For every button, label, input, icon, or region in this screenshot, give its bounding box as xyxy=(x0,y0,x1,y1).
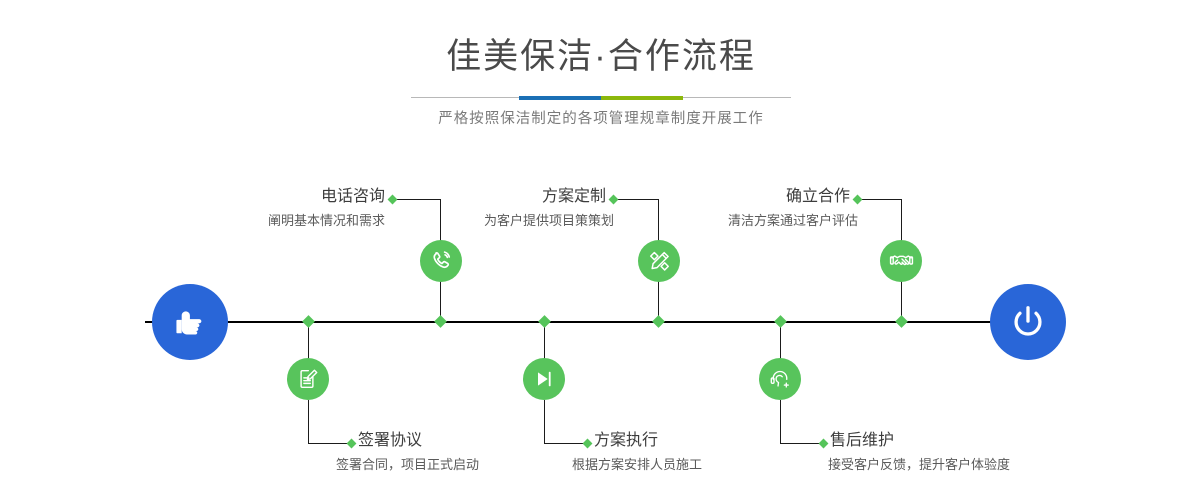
label-title-step-2: 签署协议 xyxy=(358,430,618,452)
connector-v-step-2 xyxy=(308,400,309,443)
axis-marker-step-6 xyxy=(774,315,787,328)
phone-call-icon xyxy=(429,249,454,274)
label-title-step-6: 售后维护 xyxy=(830,430,1110,452)
node-icon-step-5 xyxy=(880,240,922,282)
label-title-step-3: 方案定制 xyxy=(370,186,606,208)
label-step-4: 方案执行 根据方案安排人员施工 xyxy=(594,430,854,476)
timeline-end-node xyxy=(990,284,1066,360)
timeline-start-node xyxy=(152,284,228,360)
divider-segment-green xyxy=(601,96,683,100)
title-divider xyxy=(411,96,791,99)
label-desc-step-5: 清洁方案通过客户评估 xyxy=(614,210,858,232)
label-title-step-5: 确立合作 xyxy=(614,186,850,208)
axis-marker-step-1 xyxy=(434,315,447,328)
node-icon-step-6 xyxy=(759,358,801,400)
node-icon-step-4 xyxy=(523,358,565,400)
label-desc-step-3: 为客户提供项目策策划 xyxy=(370,210,614,232)
connector-v-step-5 xyxy=(901,199,902,241)
timeline-axis xyxy=(145,321,1057,323)
divider-segment-blue xyxy=(519,96,601,100)
page-title: 佳美保洁·合作流程 xyxy=(0,34,1202,80)
play-execute-icon xyxy=(532,367,556,391)
node-icon-step-3 xyxy=(638,240,680,282)
handshake-icon xyxy=(889,249,914,274)
label-title-step-4: 方案执行 xyxy=(594,430,854,452)
label-desc-step-1: 阐明基本情况和需求 xyxy=(150,210,385,232)
pencil-ruler-icon xyxy=(647,249,672,274)
label-step-1: 电话咨询 阐明基本情况和需求 xyxy=(150,186,385,232)
hand-pointing-icon xyxy=(169,301,211,343)
label-step-5: 确立合作 清洁方案通过客户评估 xyxy=(614,186,850,232)
connector-dot-step-2 xyxy=(347,439,357,449)
label-desc-step-4: 根据方案安排人员施工 xyxy=(572,454,854,476)
axis-marker-step-2 xyxy=(302,315,315,328)
axis-marker-step-4 xyxy=(538,315,551,328)
label-step-3: 方案定制 为客户提供项目策策划 xyxy=(370,186,606,232)
axis-marker-step-3 xyxy=(652,315,665,328)
cooperation-process-infographic: 佳美保洁·合作流程 严格按照保洁制定的各项管理规章制度开展工作 xyxy=(0,0,1202,502)
headset-support-icon xyxy=(768,367,792,391)
document-edit-icon xyxy=(296,367,320,391)
label-step-6: 售后维护 接受客户反馈，提升客户体验度 xyxy=(830,430,1110,476)
connector-h-step-5 xyxy=(858,199,902,200)
node-icon-step-1 xyxy=(420,240,462,282)
label-desc-step-6: 接受客户反馈，提升客户体验度 xyxy=(828,454,1110,476)
axis-marker-step-5 xyxy=(895,315,908,328)
page-subtitle: 严格按照保洁制定的各项管理规章制度开展工作 xyxy=(0,107,1202,128)
header: 佳美保洁·合作流程 xyxy=(0,34,1202,80)
label-title-step-1: 电话咨询 xyxy=(150,186,385,208)
power-icon xyxy=(1006,300,1050,344)
connector-dot-step-5 xyxy=(853,195,863,205)
node-icon-step-2 xyxy=(287,358,329,400)
